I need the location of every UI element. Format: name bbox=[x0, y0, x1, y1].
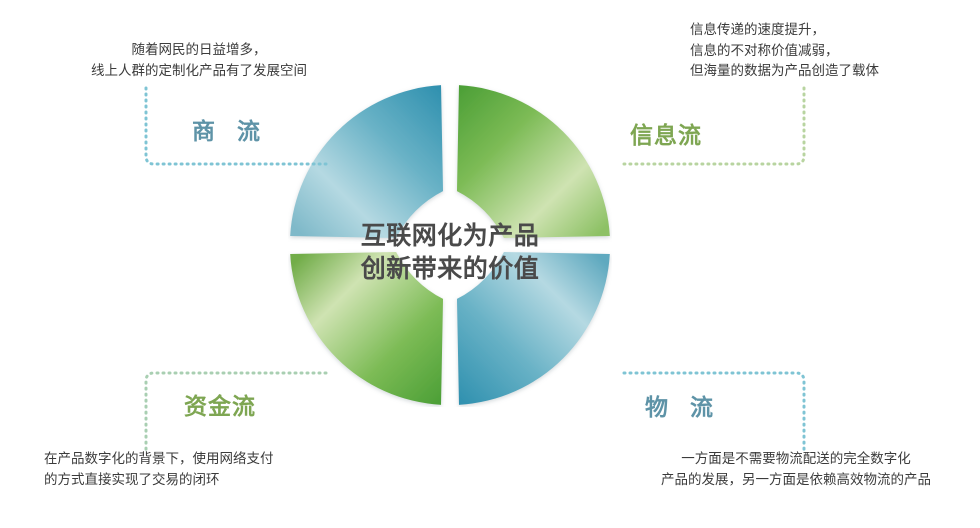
description-xinxiliu: 信息传递的速度提升， 信息的不对称价值减弱， 但海量的数据为产品创造了载体 bbox=[690, 20, 980, 82]
quadrant-label-xinxiliu: 信息流 bbox=[630, 116, 702, 150]
description-wuliu: 一方面是不需要物流配送的完全数字化 产品的发展，另一方面是依赖高效物流的产品 bbox=[612, 449, 980, 490]
arc-segment-xinxiliu bbox=[457, 85, 610, 238]
quadrant-label-shangliu: 商 流 bbox=[192, 112, 267, 146]
quadrant-label-wuliu: 物 流 bbox=[645, 388, 720, 422]
diagram-canvas: 互联网化为产品 创新带来的价值 商 流 信息流 资金流 物 流 随着网民的日益增… bbox=[0, 0, 980, 528]
description-shangliu: 随着网民的日益增多， 线上人群的定制化产品有了发展空间 bbox=[44, 40, 354, 81]
description-zijinliu: 在产品数字化的背景下，使用网络支付 的方式直接实现了交易的闭环 bbox=[44, 449, 374, 490]
quadrant-label-zijinliu: 资金流 bbox=[184, 387, 256, 421]
center-title: 互联网化为产品 创新带来的价值 bbox=[330, 219, 570, 285]
